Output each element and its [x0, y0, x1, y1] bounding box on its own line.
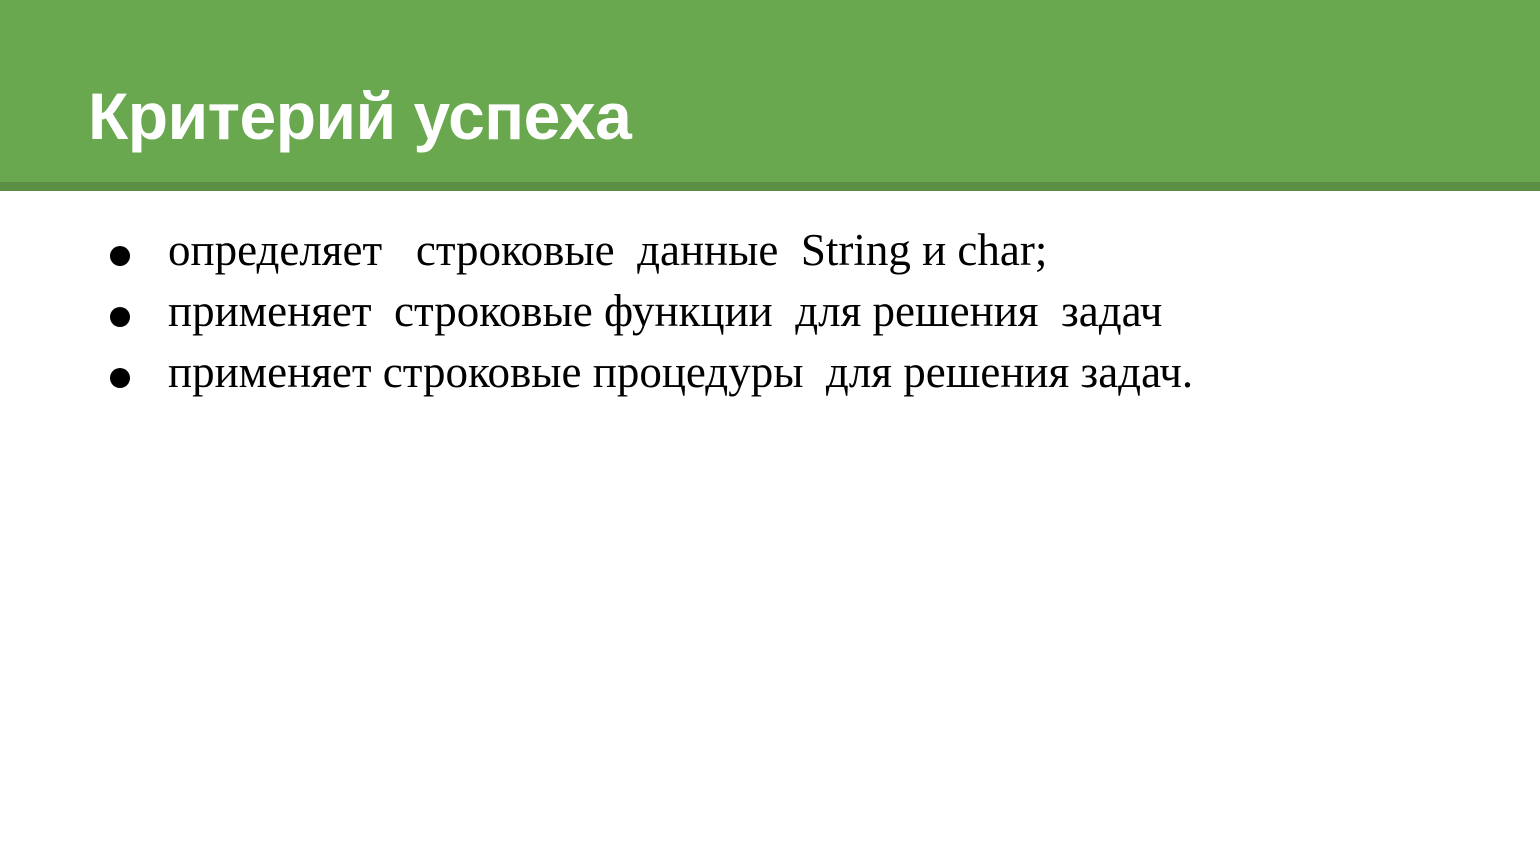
- slide-header-underline: [0, 182, 1540, 191]
- list-item: определяет строковые данные String и cha…: [104, 220, 1484, 281]
- bullet-dot-icon: [110, 246, 130, 266]
- list-item-label: определяет строковые данные String и cha…: [168, 220, 1484, 281]
- slide: Критерий успеха определяет строковые дан…: [0, 0, 1540, 864]
- list-item: применяет строковые процедуры для решени…: [104, 342, 1484, 403]
- list-item-label: применяет строковые функции для решения …: [168, 281, 1484, 342]
- bullet-list: определяет строковые данные String и cha…: [104, 220, 1484, 403]
- bullet-dot-icon: [110, 307, 130, 327]
- bullet-dot-icon: [110, 368, 130, 388]
- slide-body: определяет строковые данные String и cha…: [0, 191, 1540, 864]
- page-title: Критерий успеха: [88, 76, 631, 156]
- list-item-label: применяет строковые процедуры для решени…: [168, 342, 1484, 403]
- list-item: применяет строковые функции для решения …: [104, 281, 1484, 342]
